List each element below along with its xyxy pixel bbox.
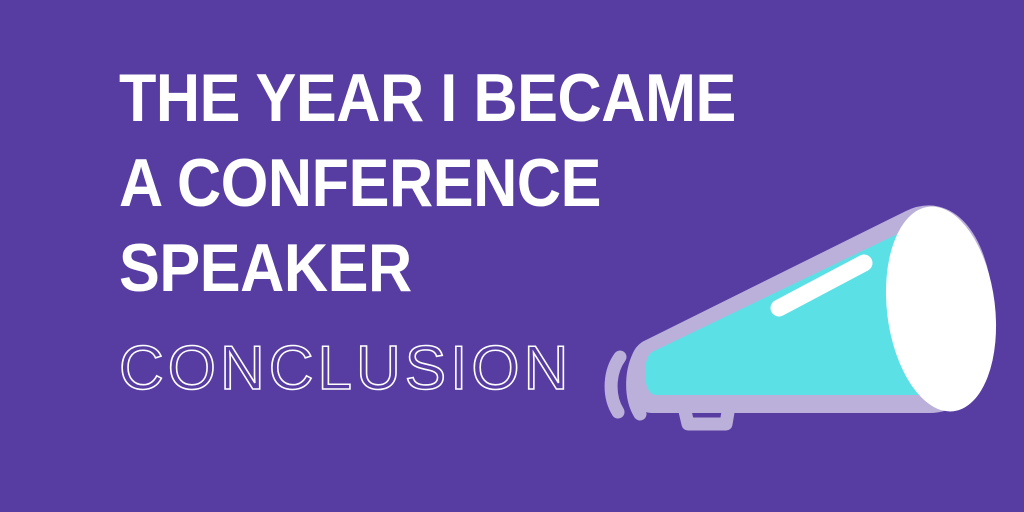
bell-opening-ellipse: [875, 200, 1007, 418]
handle-bracket: [681, 394, 731, 424]
mouthpiece-arc-inner: [633, 352, 641, 414]
subtitle: CONCLUSION: [119, 336, 572, 402]
subtitle-text: CONCLUSION: [119, 336, 572, 402]
mouthpiece-arc-outer: [611, 357, 620, 412]
headline-line-1: THE YEAR I BECAME: [119, 56, 785, 141]
headline-line-3: SPEAKER: [119, 226, 785, 311]
poster-canvas: THE YEAR I BECAME A CONFERENCE SPEAKER C…: [0, 0, 1024, 512]
headline-line-2: A CONFERENCE: [119, 141, 785, 226]
headline-block: THE YEAR I BECAME A CONFERENCE SPEAKER: [119, 56, 859, 311]
